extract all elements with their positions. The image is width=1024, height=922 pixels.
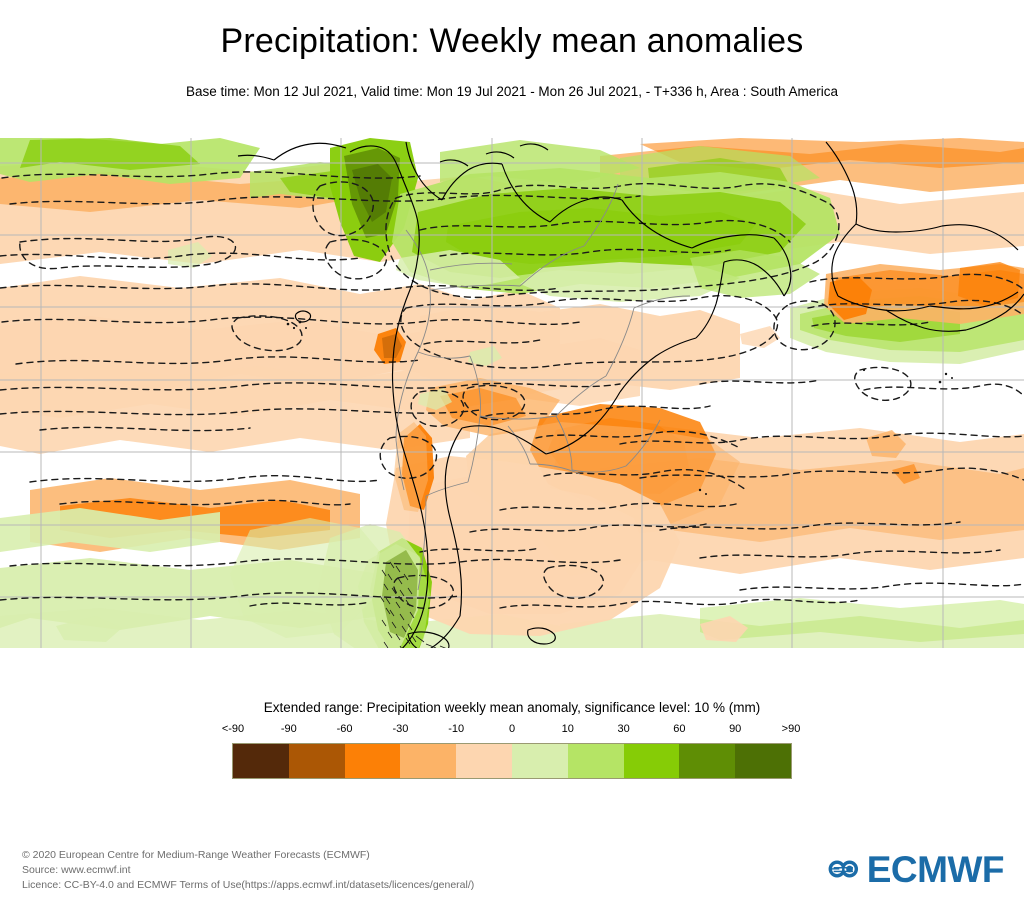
page-title: Precipitation: Weekly mean anomalies xyxy=(0,22,1024,61)
chart-subtitle: Base time: Mon 12 Jul 2021, Valid time: … xyxy=(0,84,1024,99)
legend-tick-2: -60 xyxy=(337,723,353,735)
legend-tick-5: 0 xyxy=(509,723,515,735)
legend-caption: Extended range: Precipitation weekly mea… xyxy=(0,700,1024,715)
legend-tick-1: -90 xyxy=(281,723,297,735)
footer-copyright: © 2020 European Centre for Medium-Range … xyxy=(22,848,474,863)
colorbar-swatch-1 xyxy=(289,744,345,778)
legend-tick-8: 60 xyxy=(673,723,685,735)
legend-tick-7: 30 xyxy=(617,723,629,735)
colorbar-swatch-3 xyxy=(400,744,456,778)
footer-licence: Licence: CC-BY-4.0 and ECMWF Terms of Us… xyxy=(22,878,474,893)
ecmwf-wordmark: ECMWF xyxy=(867,851,1004,888)
legend-tick-6: 10 xyxy=(562,723,574,735)
colorbar-swatch-5 xyxy=(512,744,568,778)
legend-tick-3: -30 xyxy=(392,723,408,735)
colorbar-swatch-4 xyxy=(456,744,512,778)
legend-tick-9: 90 xyxy=(729,723,741,735)
ecmwf-globe-icon xyxy=(828,849,860,889)
ecmwf-logo[interactable]: ECMWF xyxy=(828,845,1004,893)
colorbar-swatch-8 xyxy=(679,744,735,778)
legend-tick-0: <-90 xyxy=(222,723,244,735)
legend-tick-labels: <-90-90-60-30-10010306090>90 xyxy=(233,723,791,739)
map-plot-area[interactable] xyxy=(0,138,1024,648)
legend-tick-4: -10 xyxy=(448,723,464,735)
colorbar-swatch-6 xyxy=(568,744,624,778)
footer-source: Source: www.ecmwf.int xyxy=(22,863,474,878)
colorbar[interactable] xyxy=(232,743,792,779)
colorbar-swatch-7 xyxy=(624,744,680,778)
legend-tick-10: >90 xyxy=(782,723,801,735)
footer-credits: © 2020 European Centre for Medium-Range … xyxy=(22,848,474,893)
colorbar-swatch-0 xyxy=(233,744,289,778)
colorbar-swatch-9 xyxy=(735,744,791,778)
colorbar-legend: Extended range: Precipitation weekly mea… xyxy=(0,700,1024,779)
anomaly-map xyxy=(0,138,1024,648)
colorbar-swatch-2 xyxy=(345,744,401,778)
